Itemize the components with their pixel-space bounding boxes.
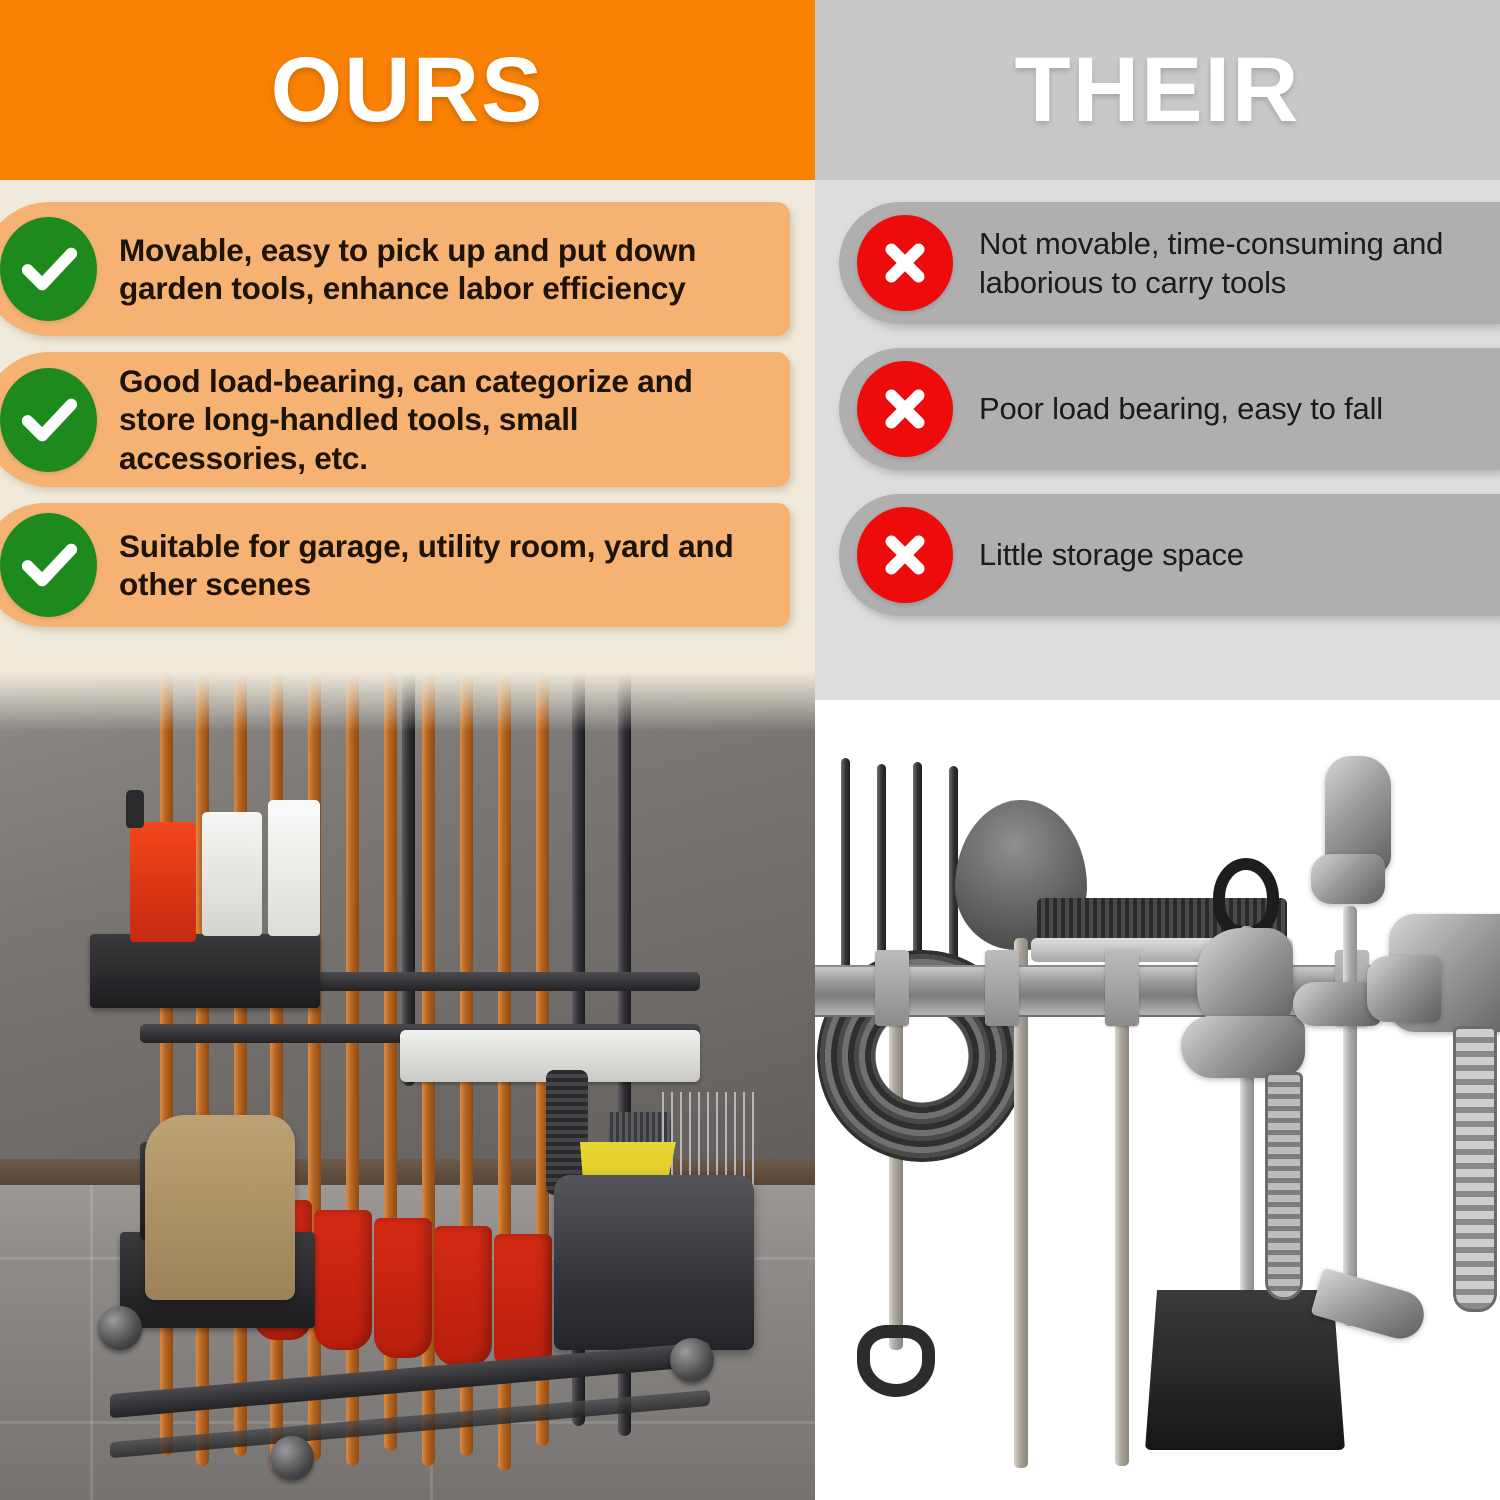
- their-feature-text-2: Poor load bearing, easy to fall: [979, 389, 1383, 428]
- their-feature-item-1: Not movable, time-consuming and laboriou…: [839, 202, 1500, 324]
- their-feature-item-3: Little storage space: [839, 494, 1500, 616]
- wall-mounted-tool-rail-photo: [815, 700, 1500, 1500]
- ours-feature-item-2: Good load-bearing, can categorize and st…: [0, 352, 790, 487]
- ours-feature-item-3: Suitable for garage, utility room, yard …: [0, 503, 790, 627]
- tool-cart: [150, 672, 710, 1500]
- their-feature-text-1: Not movable, time-consuming and laboriou…: [979, 224, 1482, 302]
- their-header-title: THEIR: [1015, 44, 1301, 136]
- check-icon: [0, 217, 97, 321]
- ours-feature-list: Movable, easy to pick up and put down ga…: [0, 180, 815, 627]
- check-icon: [0, 513, 97, 617]
- ours-column: OURS Movable, easy to pick up and put do…: [0, 0, 815, 1500]
- their-feature-text-3: Little storage space: [979, 535, 1244, 574]
- garden-tool-cart-photo: [0, 672, 815, 1500]
- ours-header-title: OURS: [271, 44, 545, 136]
- photo-top-fade: [0, 672, 815, 732]
- cross-icon: [857, 361, 953, 457]
- cross-icon: [857, 215, 953, 311]
- ours-feature-item-1: Movable, easy to pick up and put down ga…: [0, 202, 790, 336]
- cross-icon: [857, 507, 953, 603]
- their-header: THEIR: [815, 0, 1500, 180]
- their-feature-item-2: Poor load bearing, easy to fall: [839, 348, 1500, 470]
- comparison-infographic: OURS Movable, easy to pick up and put do…: [0, 0, 1500, 1500]
- ours-feature-text-3: Suitable for garage, utility room, yard …: [119, 527, 764, 604]
- ours-feature-text-1: Movable, easy to pick up and put down ga…: [119, 231, 764, 308]
- check-icon: [0, 368, 97, 472]
- their-column: THEIR Not movable, time-consuming and la…: [815, 0, 1500, 1500]
- their-feature-list: Not movable, time-consuming and laboriou…: [815, 180, 1500, 616]
- ours-feature-text-2: Good load-bearing, can categorize and st…: [119, 362, 764, 477]
- ours-header: OURS: [0, 0, 815, 180]
